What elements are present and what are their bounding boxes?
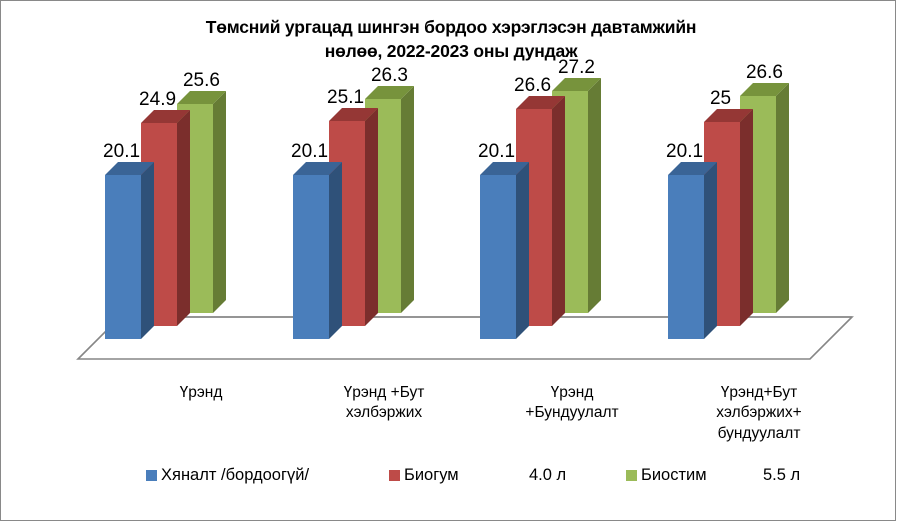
- bar-side-face: [704, 175, 717, 339]
- category-label-line: Үрэнд: [477, 383, 667, 403]
- bar-side-fill: [516, 162, 529, 339]
- bar-side-face: [588, 91, 601, 313]
- bar-value-label: 26.3: [371, 66, 408, 85]
- category-label-line: Үрэнд: [106, 383, 296, 403]
- bar-side-fill: [329, 162, 342, 339]
- bar-cluster: 20.12526.6: [668, 69, 776, 339]
- category-label-line: +Бундуулалт: [477, 403, 667, 423]
- bar-top-face: [329, 108, 365, 121]
- bar-side-face: [213, 104, 226, 313]
- bar-value-label: 25: [710, 89, 731, 108]
- bar-side-face: [552, 109, 565, 326]
- category-label: Үрэнд +Бутхэлбэржих: [289, 383, 479, 424]
- bar-side-fill: [401, 86, 414, 313]
- bar-side-fill: [588, 78, 601, 313]
- category-label: Үрэнд+Бутхэлбэржих+бундуулалт: [664, 383, 854, 444]
- bar-front-face: [668, 175, 704, 339]
- legend-item[interactable]: Биостим: [626, 463, 707, 487]
- bar-top-face: [480, 162, 516, 175]
- bar-value-label: 20.1: [666, 142, 703, 161]
- category-label-line: Үрэнд+Бут: [664, 383, 854, 403]
- bar-side-face: [365, 121, 378, 326]
- bar-top-face: [704, 109, 740, 122]
- bar-top-face: [365, 86, 401, 99]
- category-label-line: бундуулалт: [664, 424, 854, 444]
- bar-side-face: [776, 96, 789, 313]
- bar-side-fill: [552, 96, 565, 326]
- category-label: Үрэнд+Бундуулалт: [477, 383, 667, 424]
- bar[interactable]: 20.1: [480, 175, 516, 339]
- legend-swatch-icon: [389, 470, 400, 481]
- legend-label: Биогум: [404, 466, 459, 485]
- bar-top-face: [105, 162, 141, 175]
- chart-title-line-1: Төмсний ургацад шингэн бордоо хэрэглэсэн…: [121, 15, 781, 39]
- bar-group: 20.124.925.6: [63, 69, 213, 339]
- bar-value-label: 26.6: [514, 76, 551, 95]
- bar-top-face: [516, 96, 552, 109]
- legend-swatch-icon: [626, 470, 637, 481]
- bar-side-face: [177, 123, 190, 326]
- bar-value-label: 25.6: [183, 71, 220, 90]
- category-label: Үрэнд: [106, 383, 296, 403]
- bar-top-face: [552, 78, 588, 91]
- bar-top-face: [668, 162, 704, 175]
- bar-side-face: [401, 99, 414, 313]
- bar-value-label: 20.1: [478, 142, 515, 161]
- chart-title: Төмсний ургацад шингэн бордоо хэрэглэсэн…: [121, 15, 781, 63]
- bar-side-face: [516, 175, 529, 339]
- bar-front-face: [105, 175, 141, 339]
- bar-top-face: [740, 83, 776, 96]
- bar-side-fill: [704, 162, 717, 339]
- bar-front-face: [480, 175, 516, 339]
- bar-top-face: [141, 110, 177, 123]
- bar-cluster: 20.124.925.6: [105, 69, 213, 339]
- bar-side-fill: [365, 108, 378, 326]
- bar-side-fill: [776, 83, 789, 313]
- legend-dose-value: 5.5 л: [763, 463, 800, 487]
- legend-label: Биостим: [641, 466, 707, 485]
- legend-item[interactable]: Биогум: [389, 463, 459, 487]
- bar[interactable]: 20.1: [105, 175, 141, 339]
- bar-top-face: [293, 162, 329, 175]
- chart-title-line-2: нөлөө, 2022-2023 оны дундаж: [121, 39, 781, 63]
- bar-cluster: 20.126.627.2: [480, 69, 588, 339]
- bar-value-label: 24.9: [139, 90, 176, 109]
- category-label-line: Үрэнд +Бут: [289, 383, 479, 403]
- bar-side-face: [141, 175, 154, 339]
- legend-dose-value: 4.0 л: [529, 463, 566, 487]
- bar-side-face: [329, 175, 342, 339]
- bar-side-fill: [141, 162, 154, 339]
- bar-side-face: [740, 122, 753, 326]
- legend-label: Хяналт /бордоогүй/: [161, 466, 309, 485]
- bar-value-label: 20.1: [103, 142, 140, 161]
- bar-group: 20.12526.6: [626, 69, 776, 339]
- bar-top-face: [177, 91, 213, 104]
- bar-value-label: 27.2: [558, 58, 595, 77]
- bar-side-fill: [177, 110, 190, 326]
- bar-value-label: 25.1: [327, 88, 364, 107]
- legend-swatch-icon: [146, 470, 157, 481]
- bar[interactable]: 20.1: [293, 175, 329, 339]
- legend-item[interactable]: Хяналт /бордоогүй/: [146, 463, 309, 487]
- chart-frame: Төмсний ургацад шингэн бордоо хэрэглэсэн…: [0, 0, 896, 521]
- bar-group: 20.125.126.3: [251, 69, 401, 339]
- bar-front-face: [293, 175, 329, 339]
- chart-legend: Хяналт /бордоогүй/Биогум4.0 лБиостим5.5 …: [1, 463, 896, 499]
- bar-value-label: 26.6: [746, 63, 783, 82]
- category-label-line: хэлбэржих+: [664, 403, 854, 423]
- bar-side-fill: [213, 91, 226, 313]
- bar-group: 20.126.627.2: [438, 69, 588, 339]
- category-label-line: хэлбэржих: [289, 403, 479, 423]
- bar[interactable]: 20.1: [668, 175, 704, 339]
- plot-area: 20.124.925.620.125.126.320.126.627.220.1…: [1, 81, 896, 381]
- bar-cluster: 20.125.126.3: [293, 69, 401, 339]
- bar-value-label: 20.1: [291, 142, 328, 161]
- bar-side-fill: [740, 109, 753, 326]
